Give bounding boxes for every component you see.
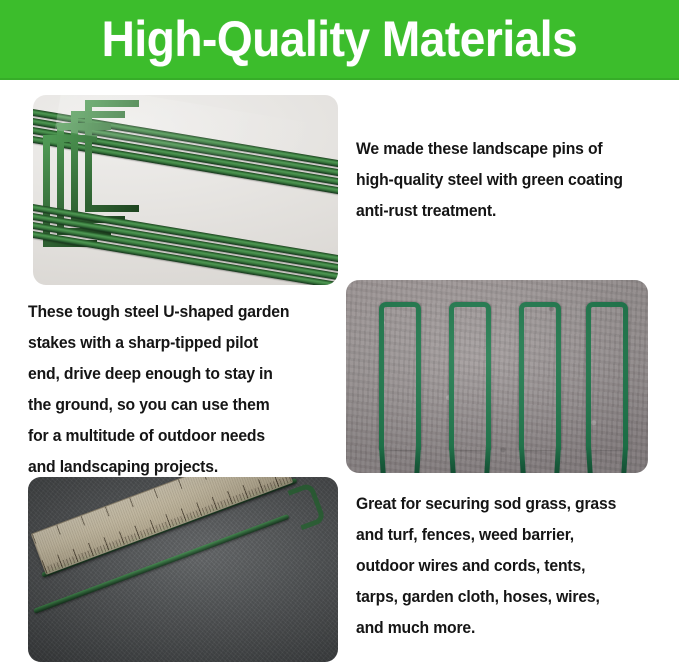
text-line: anti-rust treatment. [356,196,663,227]
text-line: end, drive deep enough to stay in [28,359,329,390]
text-line: Great for securing sod grass, grass [356,489,663,520]
photo-stake-with-ruler [28,477,338,662]
text-line: These tough steel U-shaped garden [28,297,329,328]
u-stake [586,302,628,450]
photo-stakes-on-concrete [346,280,648,473]
text-line: outdoor wires and cords, tents, [356,551,663,582]
description-durability: These tough steel U-shaped garden stakes… [28,297,329,483]
text-line: high-quality steel with green coating [356,165,663,196]
u-stake [379,302,421,450]
stake-bend [287,482,326,530]
text-line: the ground, so you can use them [28,390,329,421]
description-uses: Great for securing sod grass, grass and … [356,489,663,644]
text-line: and turf, fences, weed barrier, [356,520,663,551]
product-infographic: High-Quality Materials We made these lan… [0,0,679,668]
description-materials: We made these landscape pins of high-qua… [356,134,663,227]
stake-rails [33,95,338,285]
text-line: for a multitude of outdoor needs [28,421,329,452]
text-line: tarps, garden cloth, hoses, wires, [356,582,663,613]
photo-stacked-stakes [33,95,338,285]
page-title: High-Quality Materials [102,14,578,64]
u-stake [519,302,561,450]
header-banner: High-Quality Materials [0,0,679,80]
u-stake [449,302,491,450]
text-line: We made these landscape pins of [356,134,663,165]
text-line: stakes with a sharp-tipped pilot [28,328,329,359]
text-line: and much more. [356,613,663,644]
